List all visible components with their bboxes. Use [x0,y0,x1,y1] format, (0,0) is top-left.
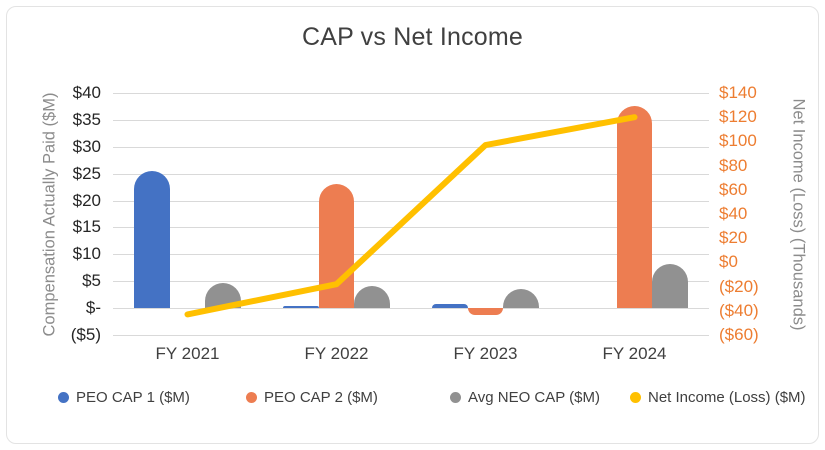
y-axis-right-tick-label: $60 [719,181,799,198]
gridline [113,335,709,336]
y-axis-left-tick-label: $- [21,299,101,316]
y-axis-right-tick-label: $20 [719,229,799,246]
legend-item[interactable]: PEO CAP 2 ($M) [246,389,378,406]
y-axis-right-tick-label: $140 [719,84,799,101]
gridline [113,93,709,94]
legend-item-label: Net Income (Loss) ($M) [648,389,806,406]
bar-fy-2022 [319,184,355,308]
y-axis-right-tick-label: ($20) [719,278,799,295]
legend-marker-dot-icon [58,392,69,403]
y-axis-left-tick-label: $30 [21,138,101,155]
bar-fy-2021 [205,283,241,308]
y-axis-right-tick-label: $80 [719,157,799,174]
y-axis-left-tick-label: $35 [21,111,101,128]
y-axis-right-tick-label: $40 [719,205,799,222]
legend-marker-dot-icon [450,392,461,403]
bar-fy-2023 [503,289,539,308]
legend-item-label: Avg NEO CAP ($M) [468,389,600,406]
y-axis-right-tick-label: $100 [719,132,799,149]
x-axis-tick-label: FY 2023 [411,344,560,364]
legend-marker-dot-icon [246,392,257,403]
legend-item[interactable]: Avg NEO CAP ($M) [450,389,600,406]
y-axis-right-tick-label: $0 [719,253,799,270]
x-axis-tick-label: FY 2022 [262,344,411,364]
bar-fy-2023 [432,304,468,308]
y-axis-right-tick-label: $120 [719,108,799,125]
legend-marker-dot-icon [630,392,641,403]
y-axis-left-tick-label: $40 [21,84,101,101]
x-axis-tick-label: FY 2024 [560,344,709,364]
y-axis-right-tick-label: ($60) [719,326,799,343]
y-axis-left-tick-label: $20 [21,192,101,209]
bar-fy-2022 [354,286,390,308]
legend-item-label: PEO CAP 1 ($M) [76,389,190,406]
y-axis-left-title: Compensation Actually Paid ($M) [41,65,60,365]
y-axis-right-tick-label: ($40) [719,302,799,319]
bar-fy-2022 [283,306,319,308]
plot-area [113,93,709,335]
chart-screenshot: CAP vs Net Income Compensation Actually … [0,0,825,450]
y-axis-left-tick-label: $10 [21,245,101,262]
bar-fy-2024 [652,264,688,308]
legend-item[interactable]: PEO CAP 1 ($M) [58,389,190,406]
y-axis-left-tick-label: $25 [21,165,101,182]
chart-title: CAP vs Net Income [0,23,825,52]
legend-item-label: PEO CAP 2 ($M) [264,389,378,406]
x-axis-tick-label: FY 2021 [113,344,262,364]
y-axis-left-tick-label: $15 [21,218,101,235]
bar-fy-2023 [468,308,504,314]
y-axis-left-tick-label: $5 [21,272,101,289]
gridline [113,308,709,309]
y-axis-left-tick-label: ($5) [21,326,101,343]
legend-item[interactable]: Net Income (Loss) ($M) [630,389,806,406]
bar-fy-2024 [617,106,653,308]
bar-fy-2021 [134,171,170,308]
